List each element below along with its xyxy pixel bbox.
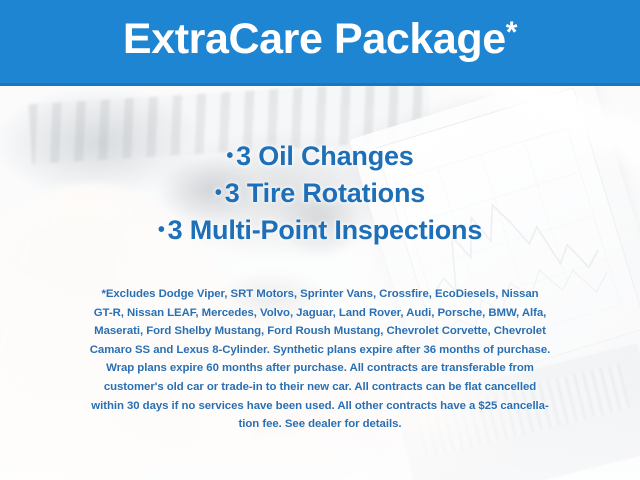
benefit-item-label: 3 Oil Changes: [236, 141, 413, 171]
disclaimer-line: Camaro SS and Lexus 8-Cylinder. Syntheti…: [26, 341, 614, 360]
benefit-item: •3 Multi-Point Inspections: [0, 212, 640, 249]
disclaimer-text: *Excludes Dodge Viper, SRT Motors, Sprin…: [26, 285, 614, 434]
disclaimer-line: Wrap plans expire 60 months after purcha…: [26, 359, 614, 378]
disclaimer-line: within 30 days if no services have been …: [26, 397, 614, 416]
page-title: ExtraCare Package*: [123, 18, 517, 65]
disclaimer-line: Maserati, Ford Shelby Mustang, Ford Rous…: [26, 322, 614, 341]
benefit-item-label: 3 Multi-Point Inspections: [168, 215, 483, 245]
disclaimer-line: GT-R, Nissan LEAF, Mercedes, Volvo, Jagu…: [26, 304, 614, 323]
disclaimer-line: *Excludes Dodge Viper, SRT Motors, Sprin…: [26, 285, 614, 304]
benefits-list: •3 Oil Changes •3 Tire Rotations •3 Mult…: [0, 138, 640, 249]
benefit-item: •3 Oil Changes: [0, 138, 640, 175]
benefit-item: •3 Tire Rotations: [0, 175, 640, 212]
bullet-dot-icon: •: [226, 145, 233, 167]
disclaimer-line: customer's old car or trade-in to their …: [26, 378, 614, 397]
bullet-dot-icon: •: [158, 219, 165, 241]
benefit-item-label: 3 Tire Rotations: [225, 178, 425, 208]
extracare-package-ad: ExtraCare Package* •3 Oil Changes •3 Tir…: [0, 0, 640, 480]
title-asterisk: *: [506, 16, 517, 49]
header-banner: ExtraCare Package*: [0, 0, 640, 86]
disclaimer-line: tion fee. See dealer for details.: [26, 415, 614, 434]
bullet-dot-icon: •: [215, 182, 222, 204]
page-title-text: ExtraCare Package: [123, 15, 506, 63]
